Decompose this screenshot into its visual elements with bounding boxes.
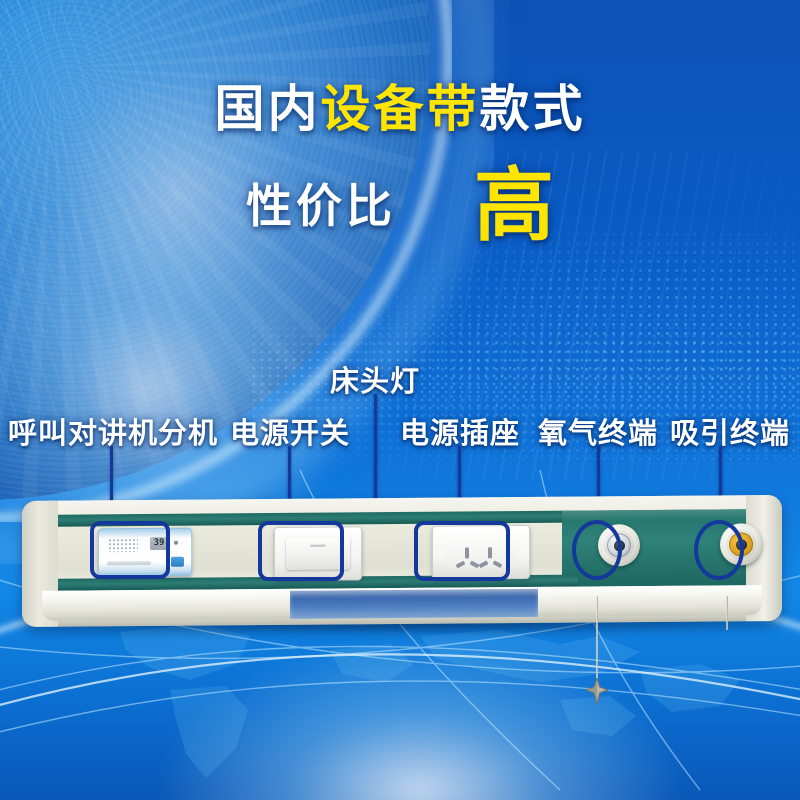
headline-line-1: 国内设备带款式: [0, 84, 800, 134]
headline-line-2: 性价比高: [0, 166, 800, 246]
headline-emphasis: 高: [474, 159, 554, 252]
headline-seg-1: 国内: [215, 80, 321, 138]
callout-label-intercom: 呼叫对讲机分机: [8, 410, 218, 452]
status-led-icon: [174, 541, 178, 545]
poster-canvas: 国内设备带款式 性价比高 呼叫对讲机分机 电源开关 床头灯 电源插座 氧气终端 …: [0, 0, 800, 800]
headline-subtext: 性价比: [246, 179, 396, 233]
callout-label-suction-terminal: 吸引终端: [670, 410, 790, 452]
headline-seg-3: 款式: [480, 80, 586, 138]
highlight-box-power-socket: [414, 521, 510, 581]
suction-terminal-cord: [726, 596, 728, 630]
oxygen-terminal-cord: [596, 596, 598, 684]
headline-block: 国内设备带款式 性价比高: [0, 84, 800, 246]
headline-seg-2: 设备带: [321, 80, 480, 138]
intercom-call-button[interactable]: [171, 557, 184, 567]
panel-rail-blue-inset: [290, 589, 538, 619]
cord-weight-fitting-icon: [585, 678, 609, 704]
highlight-circle-suction-terminal: [694, 520, 744, 580]
highlight-box-power-switch: [258, 521, 344, 581]
horizon-glow: [160, 640, 680, 800]
highlight-box-intercom: [90, 521, 170, 579]
highlight-circle-oxygen-terminal: [572, 520, 622, 580]
